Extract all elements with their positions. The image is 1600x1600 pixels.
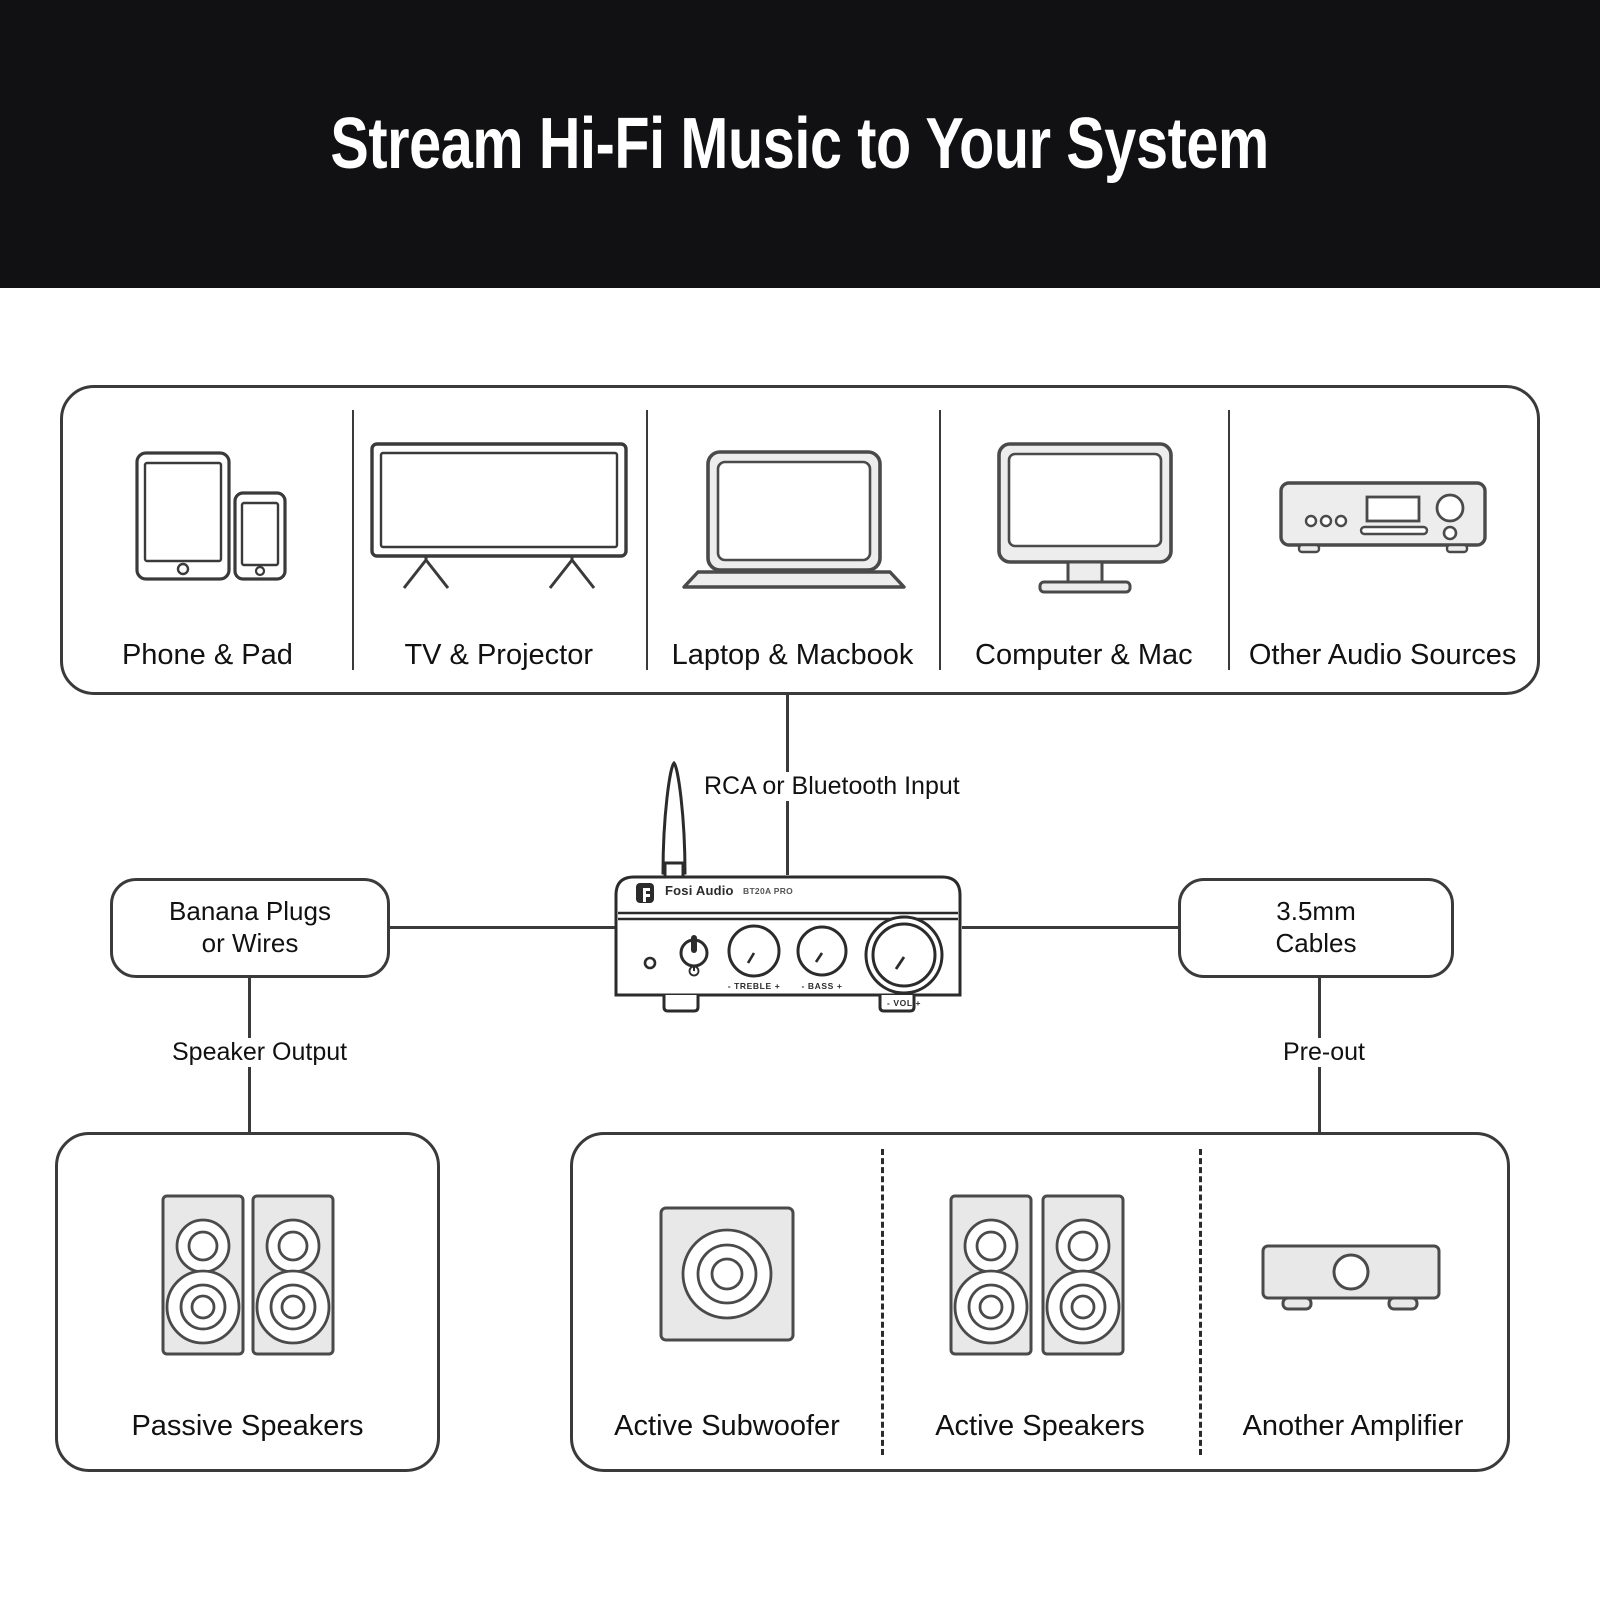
- source-label: Other Audio Sources: [1249, 641, 1517, 670]
- source-item-other-audio[interactable]: Other Audio Sources: [1228, 388, 1537, 692]
- amp-to-banana-line: [390, 926, 615, 929]
- banana-plugs-text: Banana Plugs or Wires: [169, 896, 331, 959]
- cables-box[interactable]: 3.5mm Cables: [1178, 878, 1454, 978]
- amp-knob-label-bass: - BASS +: [790, 981, 854, 991]
- fosi-amplifier[interactable]: Fosi Audio BT20A PRO - TREBLE + - BASS +…: [608, 755, 968, 1015]
- output-label: Active Speakers: [935, 1412, 1145, 1441]
- speaker-output-label: Speaker Output: [166, 1038, 353, 1067]
- output-item-another-amplifier[interactable]: Another Amplifier: [1199, 1135, 1507, 1469]
- preout-label: Pre-out: [1277, 1038, 1371, 1067]
- speaker-pair-icon: [881, 1135, 1199, 1412]
- source-item-phone-pad[interactable]: Phone & Pad: [63, 388, 352, 692]
- cables-text: 3.5mm Cables: [1276, 896, 1357, 959]
- amp-to-cables-line: [962, 926, 1178, 929]
- amp-brand-label: Fosi Audio: [665, 883, 734, 898]
- speaker-pair-icon: [58, 1135, 437, 1412]
- subwoofer-icon: [573, 1135, 881, 1412]
- source-label: Computer & Mac: [975, 641, 1193, 670]
- outputs-panel: Active Subwoofer: [570, 1132, 1510, 1472]
- amp-model-label: BT20A PRO: [743, 886, 793, 896]
- source-label: Phone & Pad: [122, 641, 293, 670]
- av-receiver-icon: [1228, 388, 1537, 641]
- page-header: Stream Hi-Fi Music to Your System: [0, 0, 1600, 288]
- cables-line1: 3.5mm: [1276, 896, 1355, 926]
- audio-sources-panel: Phone & Pad TV & Projector: [60, 385, 1540, 695]
- amp-knob-label-vol: - VOL +: [870, 998, 938, 1008]
- source-label: TV & Projector: [404, 641, 593, 670]
- banana-plugs-line1: Banana Plugs: [169, 896, 331, 926]
- passive-speakers-label: Passive Speakers: [131, 1412, 363, 1441]
- source-item-tv-projector[interactable]: TV & Projector: [352, 388, 646, 692]
- tablet-phone-icon: [63, 388, 352, 641]
- cables-line2: Cables: [1276, 928, 1357, 958]
- laptop-icon: [646, 388, 940, 641]
- output-item-active-subwoofer[interactable]: Active Subwoofer: [573, 1135, 881, 1469]
- passive-speakers-panel: Passive Speakers: [55, 1132, 440, 1472]
- output-label: Another Amplifier: [1243, 1412, 1464, 1441]
- source-item-computer-mac[interactable]: Computer & Mac: [939, 388, 1228, 692]
- output-item-active-speakers[interactable]: Active Speakers: [881, 1135, 1199, 1469]
- output-label: Active Subwoofer: [614, 1412, 840, 1441]
- television-icon: [352, 388, 646, 641]
- desktop-monitor-icon: [939, 388, 1228, 641]
- banana-plugs-box[interactable]: Banana Plugs or Wires: [110, 878, 390, 978]
- amplifier-box-icon: [1199, 1135, 1507, 1412]
- page-title: Stream Hi-Fi Music to Your System: [331, 103, 1270, 185]
- source-item-laptop-macbook[interactable]: Laptop & Macbook: [646, 388, 940, 692]
- banana-plugs-line2: or Wires: [202, 928, 299, 958]
- amp-knob-label-treble: - TREBLE +: [721, 981, 787, 991]
- source-label: Laptop & Macbook: [672, 641, 914, 670]
- antenna-icon: [663, 763, 685, 879]
